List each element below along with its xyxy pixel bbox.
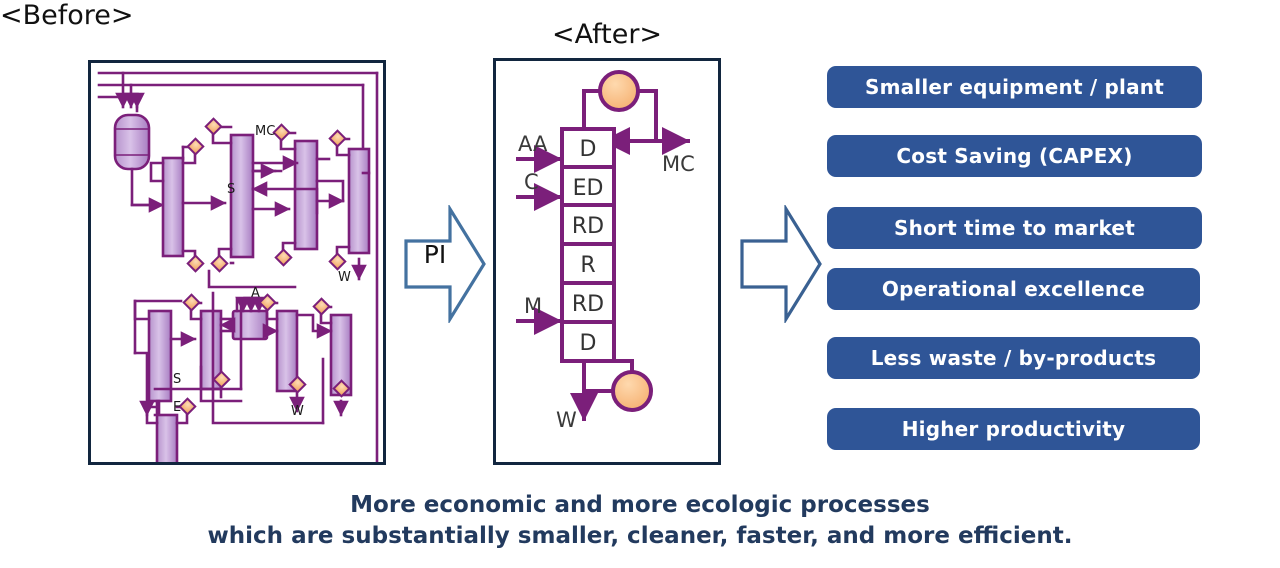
outlet-label-w: W bbox=[556, 408, 577, 432]
before-process-diagram: MC S W A W S E bbox=[88, 60, 386, 465]
before-bottom-column bbox=[157, 415, 177, 462]
svg-text:MC: MC bbox=[255, 124, 275, 139]
segment-label-2: RD bbox=[572, 214, 604, 239]
benefit-pill-1-label: Smaller equipment / plant bbox=[865, 75, 1164, 99]
inlet-label-aa: AA bbox=[518, 132, 548, 156]
caption-line-2: which are substantially smaller, cleaner… bbox=[0, 521, 1280, 552]
svg-text:W: W bbox=[338, 270, 351, 285]
benefit-pill-3-label: Short time to market bbox=[894, 216, 1135, 240]
svg-text:W: W bbox=[291, 404, 304, 419]
segment-label-3: R bbox=[580, 253, 595, 278]
benefits-arrow bbox=[740, 205, 822, 323]
benefit-pill-1[interactable]: Smaller equipment / plant bbox=[827, 66, 1202, 108]
benefit-pill-2-label: Cost Saving (CAPEX) bbox=[896, 144, 1132, 168]
caption-line-1: More economic and more ecologic processe… bbox=[0, 490, 1280, 521]
segment-label-1: ED bbox=[573, 176, 604, 201]
inlet-label-m: M bbox=[524, 294, 542, 318]
svg-text:A: A bbox=[251, 286, 260, 301]
before-valves-row1 bbox=[188, 119, 346, 272]
benefit-pill-4-label: Operational excellence bbox=[882, 277, 1145, 301]
benefit-pill-4[interactable]: Operational excellence bbox=[827, 268, 1200, 310]
outlet-label-mc: MC bbox=[662, 152, 695, 176]
svg-text:S: S bbox=[173, 372, 181, 387]
before-panel-title: <Before> bbox=[0, 0, 134, 31]
slide-canvas: <Before> bbox=[0, 0, 1280, 568]
before-column-row2 bbox=[149, 311, 351, 401]
feed-vessel bbox=[115, 115, 149, 169]
after-flowsheet-svg: D ED RD R RD D AA C M MC W bbox=[496, 61, 718, 462]
benefit-pill-5[interactable]: Less waste / by-products bbox=[827, 337, 1200, 379]
after-column: D ED RD R RD D bbox=[562, 129, 614, 361]
benefit-pill-2[interactable]: Cost Saving (CAPEX) bbox=[827, 135, 1202, 177]
benefit-pill-3[interactable]: Short time to market bbox=[827, 207, 1202, 249]
inlet-label-c: C bbox=[524, 170, 539, 194]
after-panel-title: <After> bbox=[493, 19, 721, 50]
benefit-pill-6[interactable]: Higher productivity bbox=[827, 408, 1200, 450]
summary-caption: More economic and more ecologic processe… bbox=[0, 490, 1280, 552]
after-process-diagram: D ED RD R RD D AA C M MC W bbox=[493, 58, 721, 465]
benefit-pill-5-label: Less waste / by-products bbox=[871, 346, 1157, 370]
segment-label-5: D bbox=[580, 331, 597, 356]
segment-label-4: RD bbox=[572, 292, 604, 317]
before-flowsheet-svg: MC S W A W S E bbox=[91, 63, 383, 462]
svg-text:E: E bbox=[173, 400, 181, 415]
segment-label-0: D bbox=[580, 137, 597, 162]
benefit-pill-6-label: Higher productivity bbox=[902, 417, 1126, 441]
svg-text:S: S bbox=[227, 182, 235, 197]
pi-arrow-label: PI bbox=[404, 240, 466, 269]
